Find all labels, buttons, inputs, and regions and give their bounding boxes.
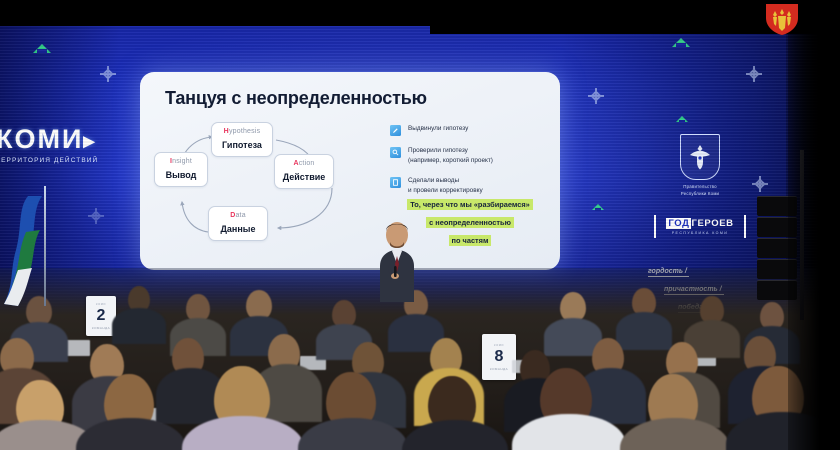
cycle-node-data-ru: Данные: [215, 224, 261, 234]
komi-diamond-ornament: [588, 88, 604, 104]
cycle-node-insight-ru: Вывод: [161, 170, 201, 180]
highlight-line-3: по частям: [449, 235, 492, 246]
cycle-node-data: Data Данные: [208, 206, 268, 241]
highlight-line-1: То, через что мы «разбираемся»: [407, 199, 533, 210]
cycle-node-insight-en: Insight: [161, 158, 201, 165]
cycle-node-hypothesis-en: Hypothesis: [218, 128, 266, 135]
audience-shoulders: [616, 312, 672, 350]
presentation-slide: Танцуя с неопределенностью Hypothesis Ги…: [140, 72, 560, 270]
cycle-node-hypothesis: Hypothesis Гипотеза: [211, 122, 273, 157]
cycle-node-insight-rest: nsight: [172, 158, 192, 165]
komi-diamond-ornament: [88, 208, 104, 224]
komi-wordmark-text: КОМИ: [0, 124, 83, 154]
komi-diamond-ornament: [100, 66, 116, 82]
cycle-node-action-rest: ction: [299, 160, 315, 167]
cycle-node-insight: Insight Вывод: [154, 152, 208, 187]
table-card-number: 2: [97, 308, 106, 324]
komi-chevron-ornament: [33, 44, 51, 53]
cycle-node-action-ru: Действие: [281, 172, 327, 182]
komi-bird-emblem-icon: [688, 144, 712, 170]
year-of-heroes-word1: ГОД: [666, 218, 691, 229]
komi-brand-subtitle: ТЕРРИТОРИЯ ДЕЙСТВИЙ: [0, 157, 116, 164]
cycle-node-hypothesis-rest: ypothesis: [229, 128, 260, 135]
komi-chevron-ornament: [592, 204, 604, 210]
hida-cycle-diagram: Hypothesis Гипотеза Action Действие Data…: [156, 122, 366, 257]
list-item: Выдвинули гипотезу: [390, 124, 550, 136]
table-card-caption: КОМАНДА: [92, 326, 110, 330]
cycle-node-action-en: Action: [281, 160, 327, 167]
bullet-text-2: Проверили гипотезу(например, короткий пр…: [408, 146, 493, 166]
year-of-heroes-text: ГОДГЕРОЕВ: [656, 218, 744, 229]
cycle-node-action: Action Действие: [274, 154, 334, 189]
table-card-caption: КОМАНДА: [490, 367, 508, 371]
komi-chevron-ornament: [676, 116, 688, 122]
pencil-icon: [390, 125, 401, 136]
table-number-card: КОМИ 8 КОМАНДА: [482, 334, 516, 380]
komi-coat-of-arms-icon: [680, 134, 720, 180]
komi-caret-icon: ▸: [83, 128, 96, 153]
komi-brand-left: КОМИ▸ ТЕРРИТОРИЯ ДЕЙСТВИЙ: [0, 126, 116, 164]
presenter-with-microphone: [368, 218, 426, 302]
year-of-heroes-caption: РЕСПУБЛИКА КОМИ: [656, 231, 744, 235]
table-card-number: 8: [495, 349, 504, 365]
komi-republic-flag: [2, 196, 48, 306]
list-item: Проверили гипотезу(например, короткий пр…: [390, 146, 550, 166]
cycle-node-data-rest: ata: [235, 212, 245, 219]
komi-diamond-ornament: [746, 66, 762, 82]
bullet-text-3: Сделали выводыи провели корректировку: [408, 176, 483, 196]
slide-title: Танцуя с неопределенностью: [165, 88, 427, 109]
year-of-heroes-badge: ГОДГЕРОЕВ РЕСПУБЛИКА КОМИ: [654, 215, 746, 238]
cycle-node-data-en: Data: [215, 212, 261, 219]
letterbox-top-left: [0, 0, 430, 26]
table-card-top-label: КОМИ: [494, 344, 504, 347]
conference-photo: КОМИ▸ ТЕРРИТОРИЯ ДЕЙСТВИЙ ПравительствоР…: [0, 0, 840, 450]
table-card-top-label: КОМИ: [96, 303, 106, 306]
stage-right-curtain: [788, 26, 840, 450]
komi-chevron-ornament: [672, 38, 690, 47]
list-item: Сделали выводыи провели корректировку: [390, 176, 550, 196]
year-of-heroes-word2: ГЕРОЕВ: [691, 218, 733, 229]
russia-coat-of-arms: [762, 2, 802, 36]
audience-shoulders: [112, 308, 166, 344]
bullet-text-1: Выдвинули гипотезу: [408, 124, 468, 134]
highlight-line-2: с неопределенностью: [426, 217, 514, 228]
document-icon: [390, 177, 401, 188]
komi-emblem-caption: ПравительствоРеспублики Коми: [640, 184, 760, 197]
magnifier-icon: [390, 147, 401, 158]
komi-wordmark: КОМИ▸: [0, 126, 116, 153]
cycle-node-hypothesis-ru: Гипотеза: [218, 140, 266, 150]
